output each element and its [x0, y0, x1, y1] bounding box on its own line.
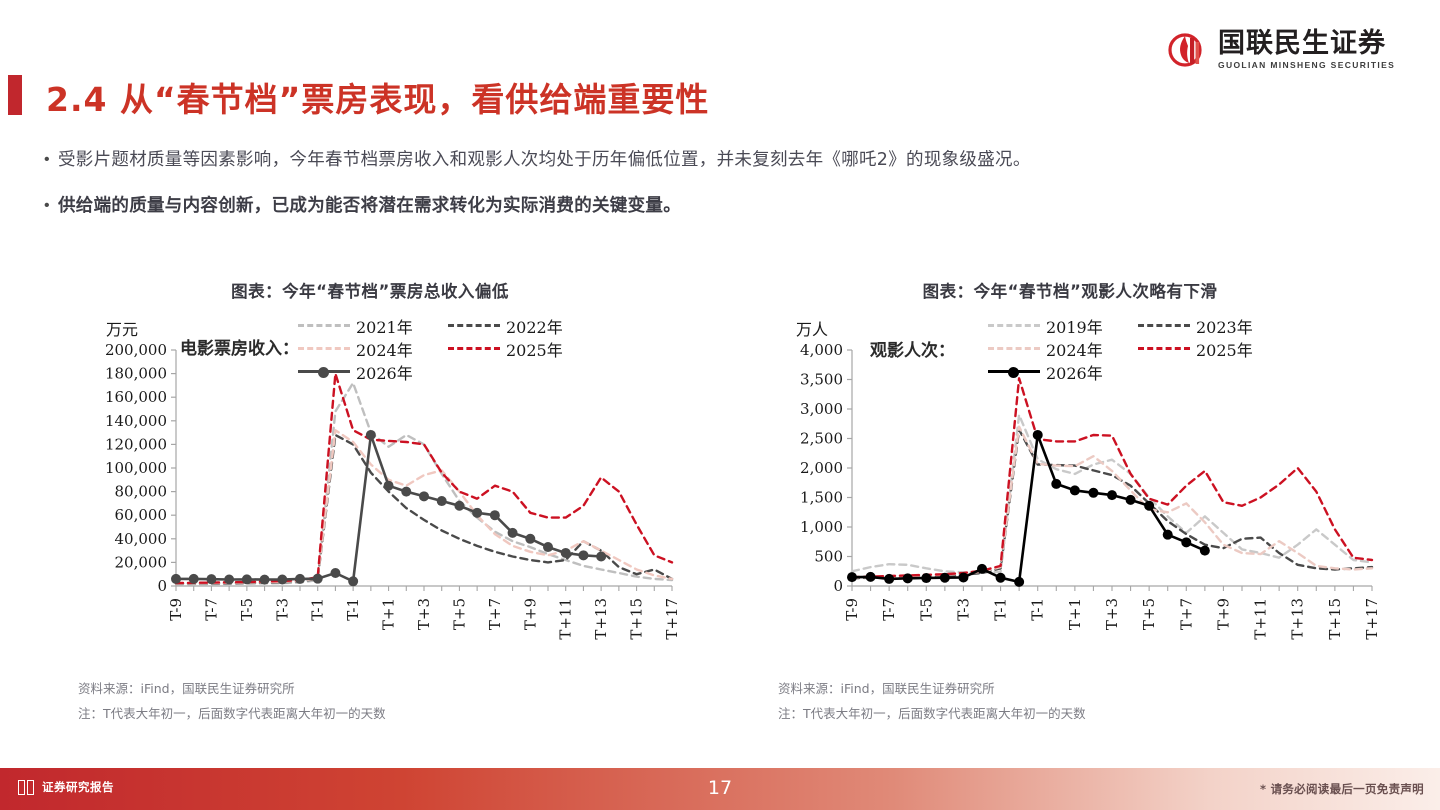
legend-label-2019: 2019年 [1046, 314, 1103, 338]
svg-text:T+7: T+7 [1177, 598, 1195, 630]
svg-text:T+9: T+9 [521, 598, 539, 630]
svg-text:120,000: 120,000 [105, 435, 167, 453]
chart-note: 注：T代表大年初一，后面数字代表距离大年初一的天数 [78, 703, 386, 722]
svg-text:4,000: 4,000 [800, 341, 843, 359]
svg-text:2,500: 2,500 [800, 430, 843, 448]
company-logo: 国联民生证券 GUOLIAN MINSHENG SECURITIES [1168, 24, 1408, 76]
svg-text:T+11: T+11 [557, 598, 575, 640]
legend-label-2022: 2022年 [506, 314, 563, 338]
svg-text:T+5: T+5 [450, 598, 468, 630]
bullet-marker: • [44, 148, 58, 172]
legend-item[interactable]: 2023年 [1138, 314, 1288, 337]
footer-disclaimer: * 请务必阅读最后一页免责声明 [1260, 781, 1424, 797]
title-accent-bar [8, 75, 22, 115]
svg-text:T+17: T+17 [1363, 598, 1380, 640]
svg-text:140,000: 140,000 [105, 412, 167, 430]
chart-note: 注：T代表大年初一，后面数字代表距离大年初一的天数 [778, 703, 1086, 722]
svg-text:1,500: 1,500 [800, 489, 843, 507]
bullet-text: 供给端的质量与内容创新，已成为能否将潜在需求转化为实际消费的关键变量。 [58, 194, 681, 218]
svg-text:T+15: T+15 [1326, 598, 1344, 640]
svg-text:T+13: T+13 [1289, 598, 1307, 640]
svg-text:T+1: T+1 [1066, 598, 1084, 630]
svg-text:T+5: T+5 [1140, 598, 1158, 630]
svg-text:T-7: T-7 [880, 598, 898, 621]
svg-text:T-7: T-7 [202, 598, 220, 621]
chart-plot-box-office: 020,00040,00060,00080,000100,000120,0001… [60, 336, 680, 666]
svg-text:T+17: T+17 [663, 598, 680, 640]
page-number: 17 [0, 777, 1440, 799]
svg-text:200,000: 200,000 [105, 341, 167, 359]
svg-text:T-9: T-9 [167, 598, 185, 621]
svg-text:T-3: T-3 [954, 598, 972, 621]
svg-text:T+3: T+3 [1103, 598, 1121, 630]
svg-text:T-1: T-1 [309, 598, 327, 621]
svg-text:T-1: T-1 [1029, 598, 1047, 621]
svg-text:T-9: T-9 [843, 598, 861, 621]
page-footer: 证券研究报告 17 * 请务必阅读最后一页免责声明 [0, 768, 1440, 810]
svg-text:500: 500 [814, 548, 843, 566]
legend-swatch-2022 [448, 324, 500, 327]
chart-source: 资料来源：iFind，国联民生证券研究所 [778, 678, 995, 697]
bullet-marker: • [44, 194, 58, 218]
svg-text:T-5: T-5 [917, 598, 935, 621]
logo-text-cn: 国联民生证券 [1218, 30, 1395, 57]
svg-text:0: 0 [833, 577, 843, 595]
svg-text:40,000: 40,000 [115, 530, 168, 548]
svg-text:2,000: 2,000 [800, 459, 843, 477]
svg-text:3,000: 3,000 [800, 400, 843, 418]
bullet-text: 受影片题材质量等因素影响，今年春节档票房收入和观影人次均处于历年偏低位置，并未复… [58, 148, 1031, 172]
logo-text-en: GUOLIAN MINSHENG SECURITIES [1218, 61, 1395, 70]
svg-text:T+1: T+1 [380, 598, 398, 630]
svg-text:100,000: 100,000 [105, 459, 167, 477]
chart-plot-admissions: 05001,0001,5002,0002,5003,0003,5004,000T… [760, 336, 1380, 666]
legend-swatch-2021 [298, 324, 350, 327]
chart-title: 图表：今年“春节档”观影人次略有下滑 [760, 278, 1380, 302]
legend-swatch-2023 [1138, 324, 1190, 327]
page-title: 2.4 从“春节档”票房表现，看供给端重要性 [46, 73, 709, 121]
legend-label-2021: 2021年 [356, 314, 413, 338]
svg-text:1,000: 1,000 [800, 518, 843, 536]
legend-swatch-2019 [988, 324, 1040, 327]
svg-text:T+9: T+9 [1214, 598, 1232, 630]
chart-source: 资料来源：iFind，国联民生证券研究所 [78, 678, 295, 697]
svg-text:T+15: T+15 [628, 598, 646, 640]
legend-item[interactable]: 2019年 [988, 314, 1138, 337]
chart-panel-box-office: 图表：今年“春节档”票房总收入偏低 万元 电影票房收入： 2021年 2022年… [60, 278, 680, 748]
legend-label-2023: 2023年 [1196, 314, 1253, 338]
svg-text:T+11: T+11 [1252, 598, 1270, 640]
bullet-item: • 受影片题材质量等因素影响，今年春节档票房收入和观影人次均处于历年偏低位置，并… [44, 148, 1404, 172]
svg-text:T-5: T-5 [238, 598, 256, 621]
legend-item[interactable]: 2021年 [298, 314, 448, 337]
legend-item[interactable]: 2022年 [448, 314, 598, 337]
svg-text:180,000: 180,000 [105, 365, 167, 383]
svg-text:T+13: T+13 [592, 598, 610, 640]
chart-title: 图表：今年“春节档”票房总收入偏低 [60, 278, 680, 302]
bullet-list: • 受影片题材质量等因素影响，今年春节档票房收入和观影人次均处于历年偏低位置，并… [44, 148, 1404, 240]
svg-text:T-1: T-1 [992, 598, 1010, 621]
svg-text:80,000: 80,000 [115, 483, 168, 501]
svg-text:160,000: 160,000 [105, 388, 167, 406]
svg-text:0: 0 [157, 577, 167, 595]
svg-text:T+3: T+3 [415, 598, 433, 630]
chart-panel-admissions: 图表：今年“春节档”观影人次略有下滑 万人 观影人次： 2019年 2023年 … [760, 278, 1380, 748]
svg-text:3,500: 3,500 [800, 371, 843, 389]
logo-flame-icon [1168, 30, 1208, 70]
svg-text:60,000: 60,000 [115, 506, 168, 524]
bullet-item: • 供给端的质量与内容创新，已成为能否将潜在需求转化为实际消费的关键变量。 [44, 194, 1404, 218]
svg-text:20,000: 20,000 [115, 553, 168, 571]
svg-text:T-3: T-3 [273, 598, 291, 621]
svg-text:T-1: T-1 [344, 598, 362, 621]
svg-text:T+7: T+7 [486, 598, 504, 630]
